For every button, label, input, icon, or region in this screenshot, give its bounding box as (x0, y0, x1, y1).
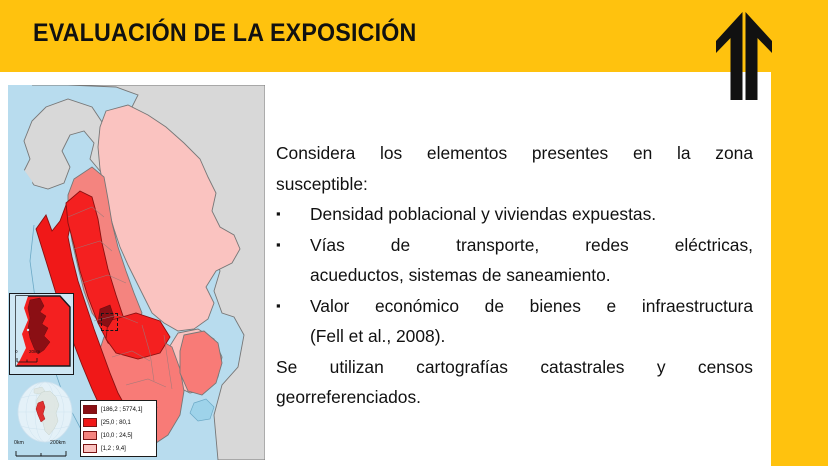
list-item-line: Valor económico de bienes e infraestruct… (310, 291, 753, 322)
map-legend: [186,2 ; 5774,1] [25,0 ; 80,1 [10,0 ; 24… (80, 400, 157, 457)
slide-canvas: EVALUACIÓN DE LA EXPOSICIÓN (0, 0, 828, 466)
legend-label-class-1: [186,2 ; 5774,1] (101, 406, 142, 413)
legend-item: [186,2 ; 5774,1] (83, 403, 154, 416)
legend-item: [25,0 ; 80,1 (83, 416, 154, 429)
legend-label-class-2: [25,0 ; 80,1 (101, 419, 131, 426)
right-accent-strip (771, 0, 828, 466)
closing-line-2: georreferenciados. (276, 382, 753, 413)
inset-scale-bar: 0 20km (15, 350, 49, 368)
legend-swatch-class-1 (83, 405, 97, 414)
legend-swatch-class-4 (83, 444, 97, 453)
bullet-marker-icon: ▪ (276, 230, 310, 261)
bullet-marker-icon: ▪ (276, 199, 310, 230)
south-america-globe-locator (12, 381, 78, 443)
list-item-body: Vías de transporte, redes eléctricas, ac… (310, 230, 753, 291)
legend-label-class-3: [10,0 ; 24,5] (101, 432, 132, 439)
legend-swatch-class-2 (83, 418, 97, 427)
main-scale-min: 0km (14, 440, 24, 446)
list-item: ▪ Densidad poblacional y viviendas expue… (276, 199, 753, 230)
list-item: ▪ Vías de transporte, redes eléctricas, … (276, 230, 753, 291)
list-item-body: Densidad poblacional y viviendas expuest… (310, 199, 753, 230)
legend-swatch-class-3 (83, 431, 97, 440)
list-item: ▪ Valor económico de bienes e infraestru… (276, 291, 753, 352)
list-item-line: acueductos, sistemas de saneamiento. (310, 260, 753, 291)
lima-detail-inset: 0 20km (9, 293, 74, 375)
list-item-line: Vías de transporte, redes eléctricas, (310, 230, 753, 261)
intro-line-1: Considera los elementos presentes en la … (276, 138, 753, 169)
main-scale-bar: 0km 200km (14, 444, 78, 458)
closing-line-1: Se utilizan cartografías catastrales y c… (276, 352, 753, 383)
list-item-line: (Fell et al., 2008). (310, 321, 753, 352)
bullet-marker-icon: ▪ (276, 291, 310, 322)
inset-extent-box (101, 313, 118, 331)
legend-label-class-4: [1,2 ; 9,4] (101, 445, 126, 452)
legend-item: [10,0 ; 24,5] (83, 429, 154, 442)
list-item-line: Densidad poblacional y viviendas expuest… (310, 199, 753, 230)
inset-scale-max: 20km (29, 349, 40, 354)
list-item-body: Valor económico de bienes e infraestruct… (310, 291, 753, 352)
body-text-block: Considera los elementos presentes en la … (276, 138, 753, 413)
inset-scale-min: 0 (15, 349, 18, 354)
legend-item: [1,2 ; 9,4] (83, 442, 154, 455)
main-scale-max: 200km (50, 440, 66, 446)
page-title: EVALUACIÓN DE LA EXPOSICIÓN (33, 19, 417, 48)
double-chevron-arrow-logo (712, 8, 776, 104)
intro-line-2: susceptible: (276, 169, 753, 200)
